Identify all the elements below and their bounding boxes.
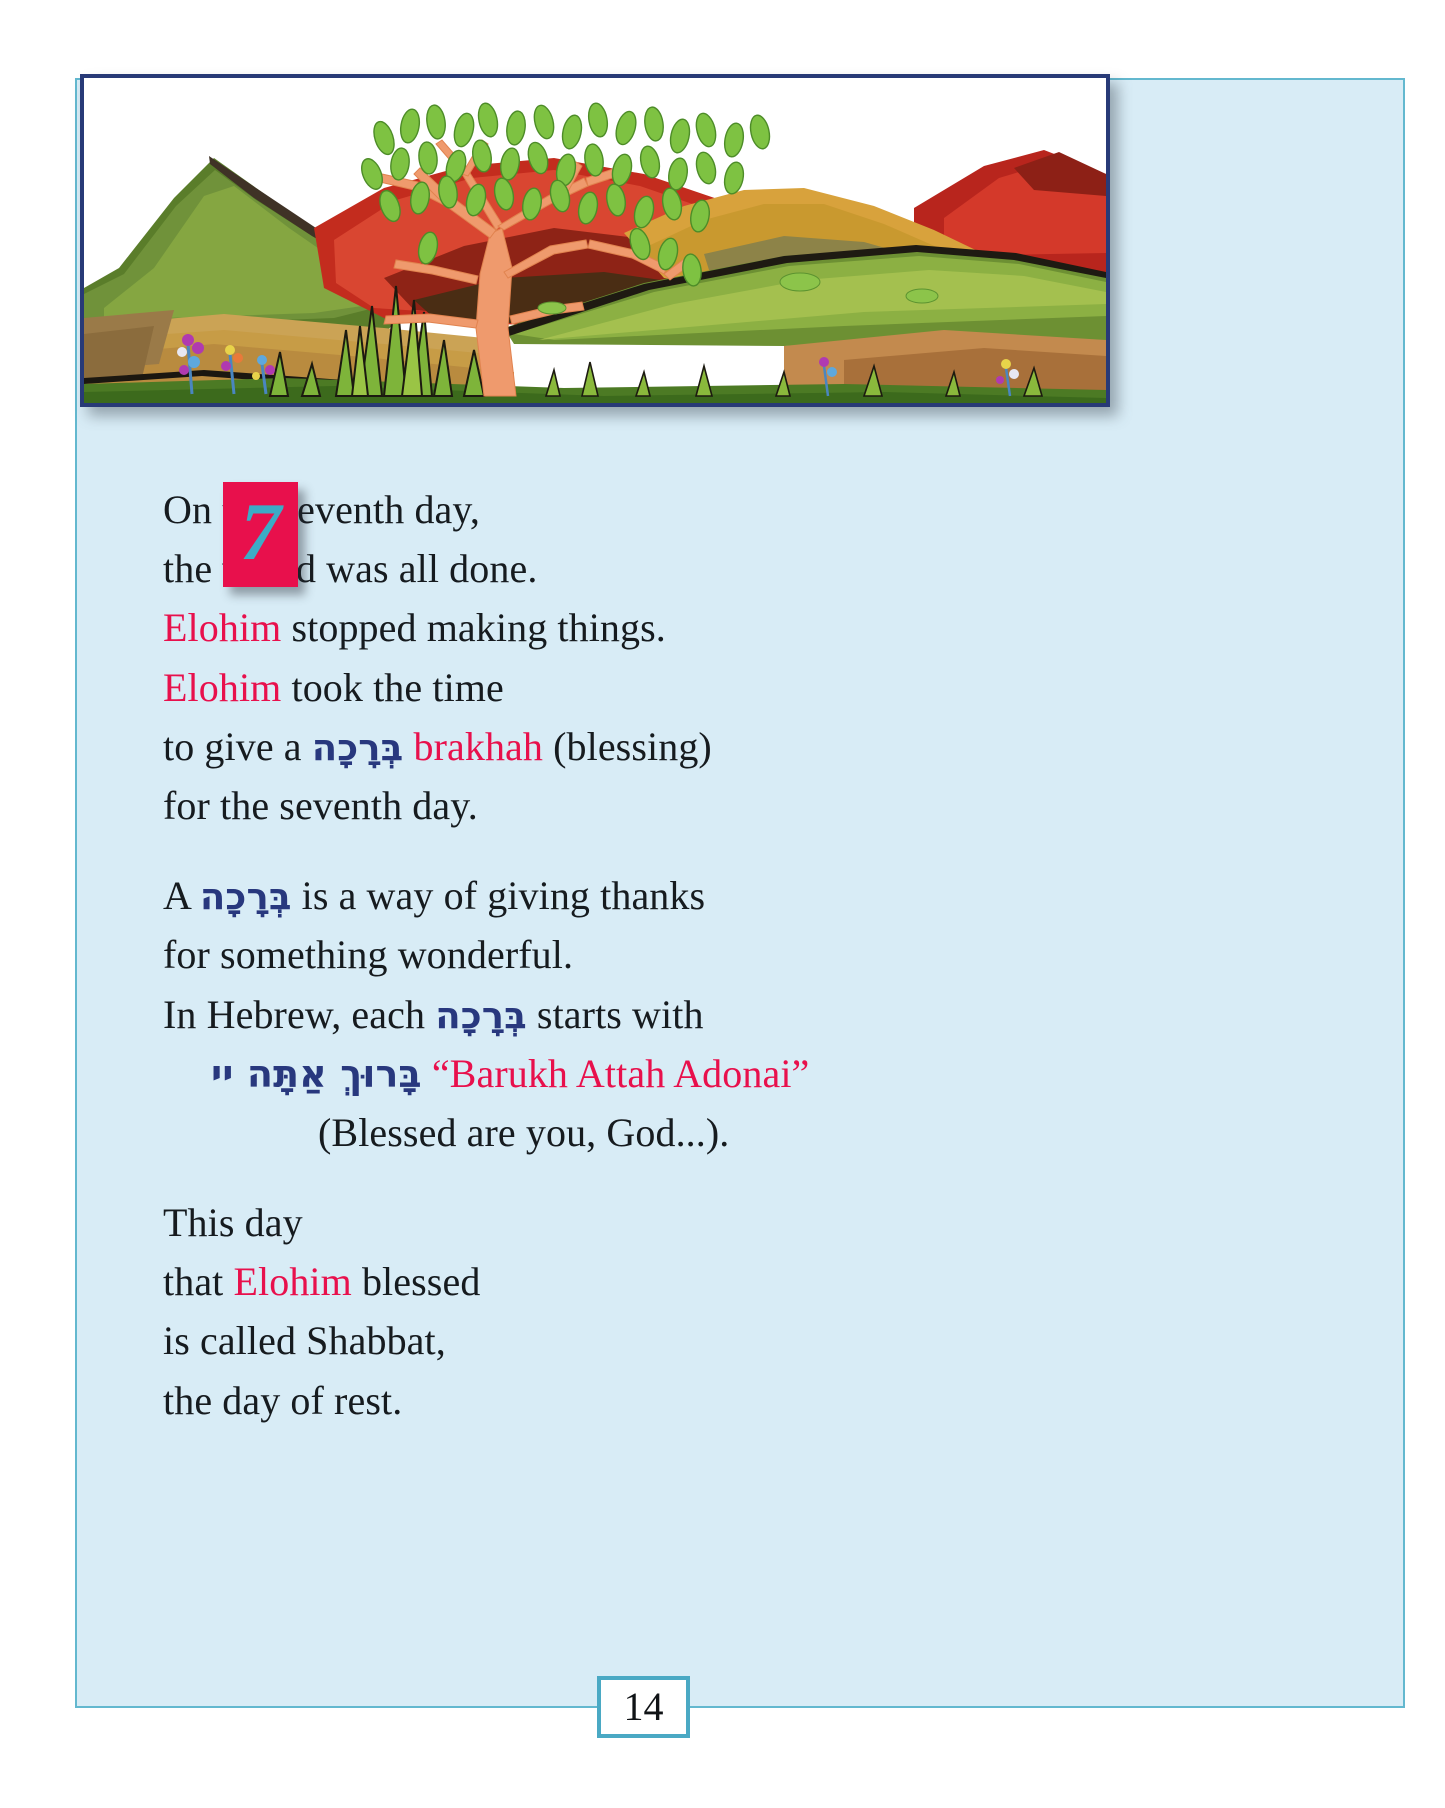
story-line: the world was all done.: [163, 539, 1223, 598]
illustration-container: [80, 74, 1110, 407]
text-run: the day of rest.: [163, 1378, 402, 1423]
highlight-term: Elohim: [163, 665, 281, 710]
highlight-term: Elohim: [233, 1259, 351, 1304]
stanza-3: This daythat Elohim blessedis called Sha…: [163, 1193, 1223, 1430]
story-line: A בְּרָכָה is a way of giving thanks: [163, 866, 1223, 925]
text-run: that: [163, 1259, 233, 1304]
text-run: In Hebrew, each: [163, 992, 435, 1037]
story-line: On the seventh day,: [163, 480, 1223, 539]
text-run: [403, 724, 413, 769]
hebrew-term: בְּרָכָה: [312, 726, 404, 769]
story-line: (Blessed are you, God...).: [163, 1103, 1223, 1162]
illustration-frame: [80, 74, 1110, 407]
verse-number-badge: 7: [223, 482, 298, 587]
text-run: On the seventh day,: [163, 487, 480, 532]
hebrew-term: בָּרוּךְ אַתָּה יי: [211, 1052, 422, 1096]
text-run: took the time: [281, 665, 503, 710]
text-run: is a way of giving thanks: [292, 873, 706, 918]
story-line: בָּרוּךְ אַתָּה יי “Barukh Attah Adonai”: [163, 1044, 1223, 1103]
hebrew-term: בְּרָכָה: [200, 875, 292, 918]
story-line: the day of rest.: [163, 1371, 1223, 1430]
landscape-illustration-svg: [84, 78, 1106, 403]
hebrew-term: בְּרָכָה: [435, 994, 527, 1037]
stanza-2: A בְּרָכָה is a way of giving thanksfor …: [163, 866, 1223, 1162]
page-number: 14: [597, 1676, 690, 1738]
text-run: blessed: [352, 1259, 481, 1304]
book-page: 7 On the seventh day,the world was all d…: [0, 0, 1445, 1808]
story-line: for the seventh day.: [163, 776, 1223, 835]
text-run: (Blessed are you, God...).: [318, 1110, 729, 1155]
story-line: for something wonderful.: [163, 925, 1223, 984]
text-run: This day: [163, 1200, 303, 1245]
text-run: is called Shabbat,: [163, 1318, 446, 1363]
stanza-list: On the seventh day,the world was all don…: [163, 480, 1223, 1430]
text-run: for something wonderful.: [163, 932, 573, 977]
text-run: starts with: [527, 992, 704, 1037]
stanza-1: On the seventh day,the world was all don…: [163, 480, 1223, 835]
text-run: (blessing): [543, 724, 712, 769]
text-run: the world was all done.: [163, 546, 537, 591]
story-line: that Elohim blessed: [163, 1252, 1223, 1311]
highlight-term: Elohim: [163, 605, 281, 650]
story-text-block: 7 On the seventh day,the world was all d…: [163, 480, 1223, 1430]
story-line: Elohim stopped making things.: [163, 598, 1223, 657]
story-line: to give a בְּרָכָה brakhah (blessing): [163, 717, 1223, 776]
story-line: In Hebrew, each בְּרָכָה starts with: [163, 985, 1223, 1044]
highlight-term: “Barukh Attah Adonai”: [432, 1051, 810, 1096]
text-run: stopped making things.: [281, 605, 666, 650]
text-run: A: [163, 873, 200, 918]
text-run: to give a: [163, 724, 312, 769]
story-line: Elohim took the time: [163, 658, 1223, 717]
text-run: [422, 1051, 432, 1096]
text-run: for the seventh day.: [163, 783, 478, 828]
story-line: This day: [163, 1193, 1223, 1252]
highlight-term: brakhah: [413, 724, 543, 769]
story-line: is called Shabbat,: [163, 1311, 1223, 1370]
